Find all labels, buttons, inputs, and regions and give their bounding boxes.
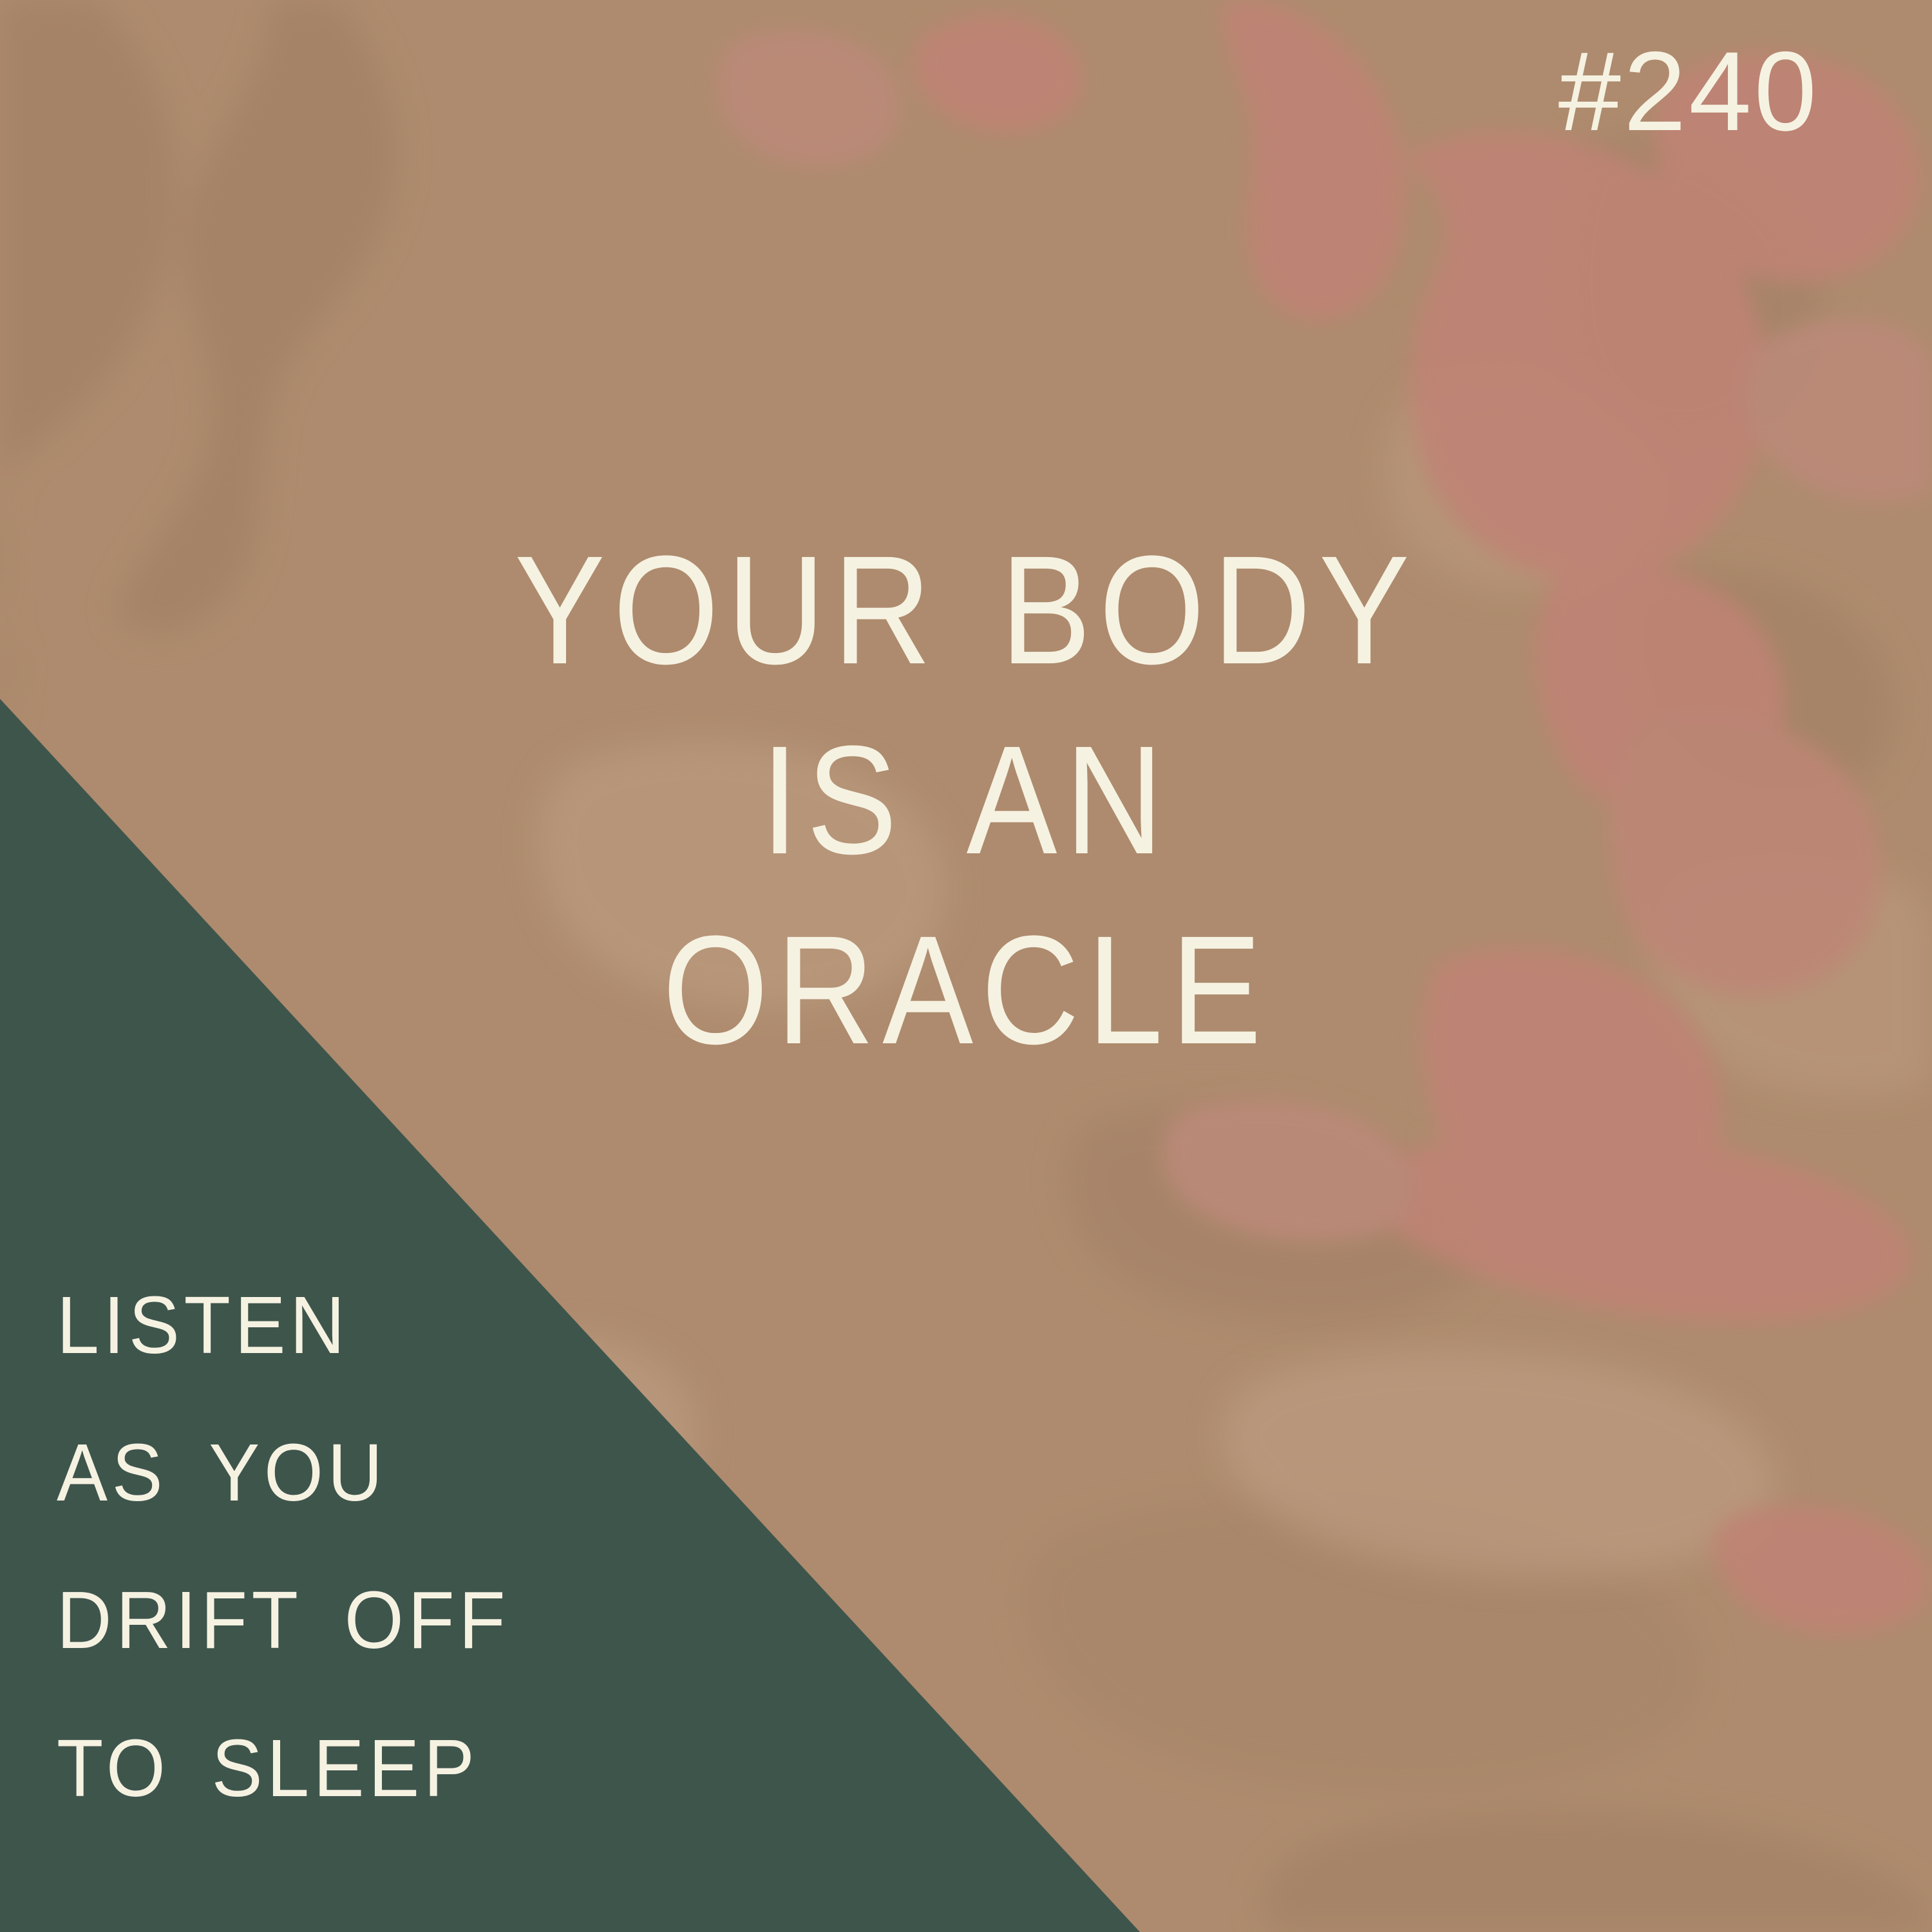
title-word-your: YOURBODY xyxy=(515,524,1417,696)
page-title: YOURBODY ISAN ORACLE xyxy=(0,515,1932,1086)
title-line-2: ISAN xyxy=(116,705,1816,895)
title-line-1: YOURBODY xyxy=(116,515,1816,705)
poster-canvas: #240 YOURBODY ISAN ORACLE LISTEN ASYOU D… xyxy=(0,0,1932,1932)
subtitle-line-4: TOSLEEP xyxy=(57,1694,509,1842)
subtitle-line-3: DRIFTOFF xyxy=(57,1546,509,1694)
subtitle-line-2: ASYOU xyxy=(57,1399,509,1546)
subtitle-line-1: LISTEN xyxy=(57,1251,509,1399)
issue-number: #240 xyxy=(1558,35,1819,148)
title-word-oracle: ORACLE xyxy=(663,904,1269,1076)
subtitle: LISTEN ASYOU DRIFTOFF TOSLEEP xyxy=(57,1251,538,1842)
title-word-isan: ISAN xyxy=(761,714,1171,886)
title-line-3: ORACLE xyxy=(116,895,1816,1085)
